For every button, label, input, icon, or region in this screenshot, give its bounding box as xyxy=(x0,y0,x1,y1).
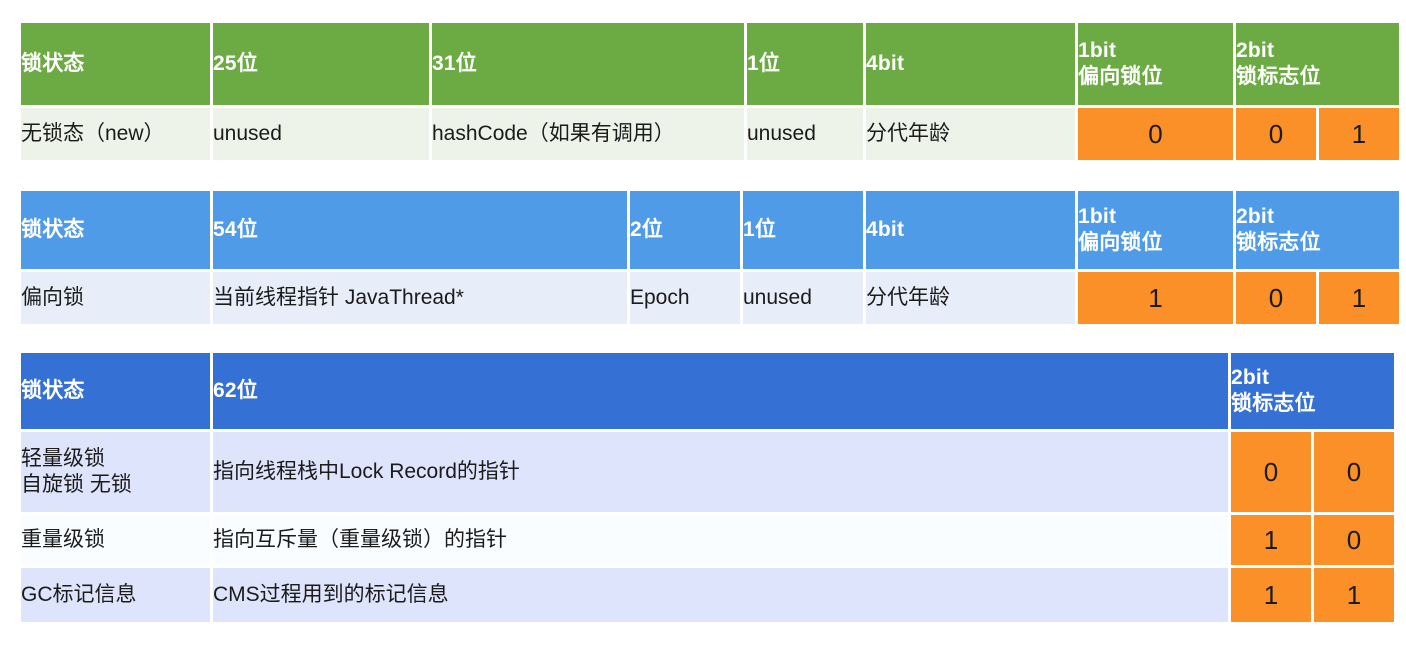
diagram-canvas: 锁状态 25位 31位 1位 4bit 1bit 偏向锁位 2bit 锁标志位 xyxy=(0,0,1406,646)
cell-1bit-unused: unused xyxy=(743,272,863,324)
table-row: 轻量级锁 自旋锁 无锁 指向线程栈中Lock Record的指针 0 0 xyxy=(21,432,1394,512)
lightweight-heavyweight-table: 锁状态 62位 2bit 锁标志位 轻量级锁 自旋锁 无锁 指向线程栈中Lock… xyxy=(18,350,1397,625)
header-line-1: 1bit xyxy=(1078,38,1233,64)
header-line-1: 2位 xyxy=(630,217,740,243)
header-31bit: 31位 xyxy=(432,23,744,105)
cell-lock-bit-1: 1 xyxy=(1231,568,1311,622)
cell-54bit-threadptr: 当前线程指针 JavaThread* xyxy=(213,272,627,324)
header-2bit-epoch: 2位 xyxy=(630,191,740,269)
cell-lock-state: 重量级锁 xyxy=(21,515,210,565)
cell-62bit-desc: CMS过程用到的标记信息 xyxy=(213,568,1228,622)
cell-lock-state: 偏向锁 xyxy=(21,272,210,324)
header-line-1: 锁状态 xyxy=(21,378,210,404)
cell-lock-bit-2: 1 xyxy=(1319,272,1399,324)
no-lock-table: 锁状态 25位 31位 1位 4bit 1bit 偏向锁位 2bit 锁标志位 xyxy=(18,20,1402,163)
table-header-row: 锁状态 62位 2bit 锁标志位 xyxy=(21,353,1394,429)
cell-62bit-desc: 指向互斥量（重量级锁）的指针 xyxy=(213,515,1228,565)
table-header-row: 锁状态 54位 2位 1位 4bit 1bit 偏向锁位 2bit 锁标志位 xyxy=(21,191,1399,269)
header-line-1: 25位 xyxy=(213,51,429,77)
header-2bit-lockflag: 2bit 锁标志位 xyxy=(1236,23,1399,105)
cell-25bit: unused xyxy=(213,108,429,160)
header-line-1: 1位 xyxy=(747,51,863,77)
cell-lock-bit-2: 1 xyxy=(1319,108,1399,160)
header-1bit-biased: 1bit 偏向锁位 xyxy=(1078,23,1233,105)
cell-1bit-unused: unused xyxy=(747,108,863,160)
header-line-2: 偏向锁位 xyxy=(1078,230,1233,256)
header-line-1: 2bit xyxy=(1231,365,1394,391)
header-line-2: 锁标志位 xyxy=(1236,64,1399,90)
header-line-2: 锁标志位 xyxy=(1231,391,1394,417)
header-4bit-age: 4bit xyxy=(866,23,1075,105)
cell-62bit-desc: 指向线程栈中Lock Record的指针 xyxy=(213,432,1228,512)
table-row: GC标记信息 CMS过程用到的标记信息 1 1 xyxy=(21,568,1394,622)
header-2bit-lockflag: 2bit 锁标志位 xyxy=(1236,191,1399,269)
header-line-1: 1bit xyxy=(1078,204,1233,230)
header-line-1: 2bit xyxy=(1236,204,1399,230)
header-line-1: 1位 xyxy=(743,217,863,243)
state-line-2: 自旋锁 无锁 xyxy=(21,472,210,498)
cell-lock-state: 轻量级锁 自旋锁 无锁 xyxy=(21,432,210,512)
header-1bit-biased: 1bit 偏向锁位 xyxy=(1078,191,1233,269)
state-line-1: 轻量级锁 xyxy=(21,446,210,472)
header-line-1: 锁状态 xyxy=(21,51,210,77)
header-lock-state: 锁状态 xyxy=(21,191,210,269)
cell-4bit-age: 分代年龄 xyxy=(866,272,1075,324)
cell-lock-bit-1: 0 xyxy=(1231,432,1311,512)
header-line-1: 4bit xyxy=(866,217,1075,243)
header-line-2: 偏向锁位 xyxy=(1078,64,1233,90)
cell-lock-bit-1: 1 xyxy=(1231,515,1311,565)
header-1bit-unused: 1位 xyxy=(743,191,863,269)
header-line-1: 31位 xyxy=(432,51,744,77)
cell-lock-bit-2: 0 xyxy=(1314,432,1394,512)
header-line-1: 锁状态 xyxy=(21,217,210,243)
header-62bit: 62位 xyxy=(213,353,1228,429)
header-lock-state: 锁状态 xyxy=(21,353,210,429)
cell-lock-bit-1: 0 xyxy=(1236,272,1316,324)
header-2bit-lockflag: 2bit 锁标志位 xyxy=(1231,353,1394,429)
cell-4bit-age: 分代年龄 xyxy=(866,108,1075,160)
header-54bit: 54位 xyxy=(213,191,627,269)
cell-lock-state: 无锁态（new） xyxy=(21,108,210,160)
cell-31bit-hashcode: hashCode（如果有调用） xyxy=(432,108,744,160)
cell-lock-bit-2: 1 xyxy=(1314,568,1394,622)
table-row: 偏向锁 当前线程指针 JavaThread* Epoch unused 分代年龄… xyxy=(21,272,1399,324)
cell-lock-bit-2: 0 xyxy=(1314,515,1394,565)
header-line-1: 54位 xyxy=(213,217,627,243)
header-line-1: 4bit xyxy=(866,51,1075,77)
header-line-1: 2bit xyxy=(1236,38,1399,64)
cell-biased-bit: 1 xyxy=(1078,272,1233,324)
cell-lock-bit-1: 0 xyxy=(1236,108,1316,160)
table-row: 重量级锁 指向互斥量（重量级锁）的指针 1 0 xyxy=(21,515,1394,565)
header-line-1: 62位 xyxy=(213,378,1228,404)
header-25bit: 25位 xyxy=(213,23,429,105)
cell-biased-bit: 0 xyxy=(1078,108,1233,160)
header-line-2: 锁标志位 xyxy=(1236,230,1399,256)
cell-lock-state: GC标记信息 xyxy=(21,568,210,622)
header-1bit-unused: 1位 xyxy=(747,23,863,105)
header-4bit-age: 4bit xyxy=(866,191,1075,269)
table-row: 无锁态（new） unused hashCode（如果有调用） unused 分… xyxy=(21,108,1399,160)
cell-2bit-epoch: Epoch xyxy=(630,272,740,324)
biased-lock-table: 锁状态 54位 2位 1位 4bit 1bit 偏向锁位 2bit 锁标志位 xyxy=(18,188,1402,327)
table-header-row: 锁状态 25位 31位 1位 4bit 1bit 偏向锁位 2bit 锁标志位 xyxy=(21,23,1399,105)
header-lock-state: 锁状态 xyxy=(21,23,210,105)
